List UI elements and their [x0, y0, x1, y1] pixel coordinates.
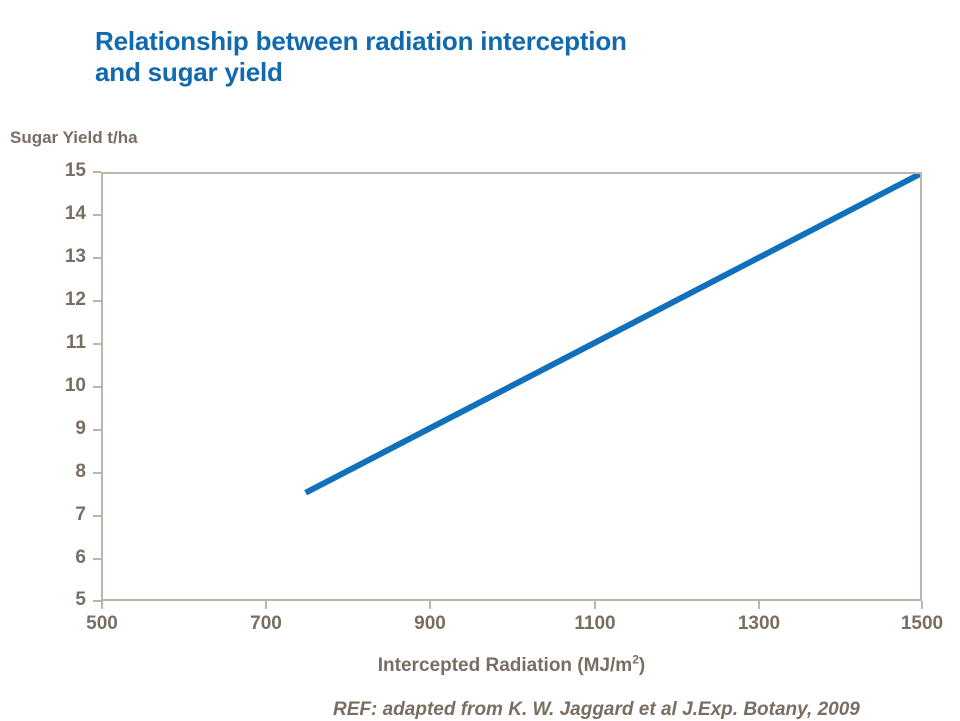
- y-tick-mark-11: [93, 343, 101, 345]
- slide-canvas: Relationship between radiation intercept…: [0, 0, 960, 720]
- y-tick-mark-7: [93, 515, 101, 517]
- reference-note: REF: adapted from K. W. Jaggard et al J.…: [333, 699, 860, 721]
- x-axis-title-suffix: ): [639, 655, 645, 676]
- y-tick-label: 5: [26, 589, 86, 611]
- y-tick-mark-6: [93, 558, 101, 560]
- x-axis-title-prefix: Intercepted Radiation (MJ/m: [378, 655, 632, 676]
- y-tick-mark-13: [93, 257, 101, 259]
- x-tick-mark-900: [429, 601, 431, 609]
- y-tick-mark-5: [93, 600, 101, 602]
- plot-svg: [103, 174, 920, 599]
- y-tick-mark-14: [93, 214, 101, 216]
- x-tick-label: 1500: [862, 613, 960, 635]
- x-tick-mark-1500: [921, 601, 923, 609]
- y-tick-mark-8: [93, 472, 101, 474]
- x-tick-mark-1300: [758, 601, 760, 609]
- y-tick-label: 13: [26, 246, 86, 268]
- x-tick-label: 1300: [699, 613, 819, 635]
- x-tick-label: 500: [42, 613, 162, 635]
- y-tick-mark-12: [93, 300, 101, 302]
- x-tick-mark-1100: [594, 601, 596, 609]
- y-tick-label: 8: [26, 461, 86, 483]
- x-tick-label: 900: [370, 613, 490, 635]
- chart-title: Relationship between radiation intercept…: [95, 26, 855, 88]
- y-tick-label: 6: [26, 547, 86, 569]
- x-tick-mark-500: [101, 601, 103, 609]
- y-tick-mark-15: [93, 171, 101, 173]
- x-tick-label: 1100: [535, 613, 655, 635]
- y-tick-mark-10: [93, 386, 101, 388]
- y-tick-label: 11: [26, 332, 86, 354]
- y-axis-title: Sugar Yield t/ha: [10, 128, 138, 148]
- x-axis-title-superscript: 2: [632, 653, 639, 667]
- y-tick-label: 12: [26, 289, 86, 311]
- x-tick-mark-700: [265, 601, 267, 609]
- x-tick-label: 700: [206, 613, 326, 635]
- x-axis-title: Intercepted Radiation (MJ/m2): [101, 655, 922, 677]
- y-tick-label: 10: [26, 375, 86, 397]
- data-series-line: [306, 174, 920, 493]
- y-tick-label: 9: [26, 418, 86, 440]
- y-tick-mark-9: [93, 429, 101, 431]
- y-tick-label: 7: [26, 504, 86, 526]
- y-tick-label: 14: [26, 203, 86, 225]
- plot-area: [101, 172, 922, 601]
- y-tick-label: 15: [26, 160, 86, 182]
